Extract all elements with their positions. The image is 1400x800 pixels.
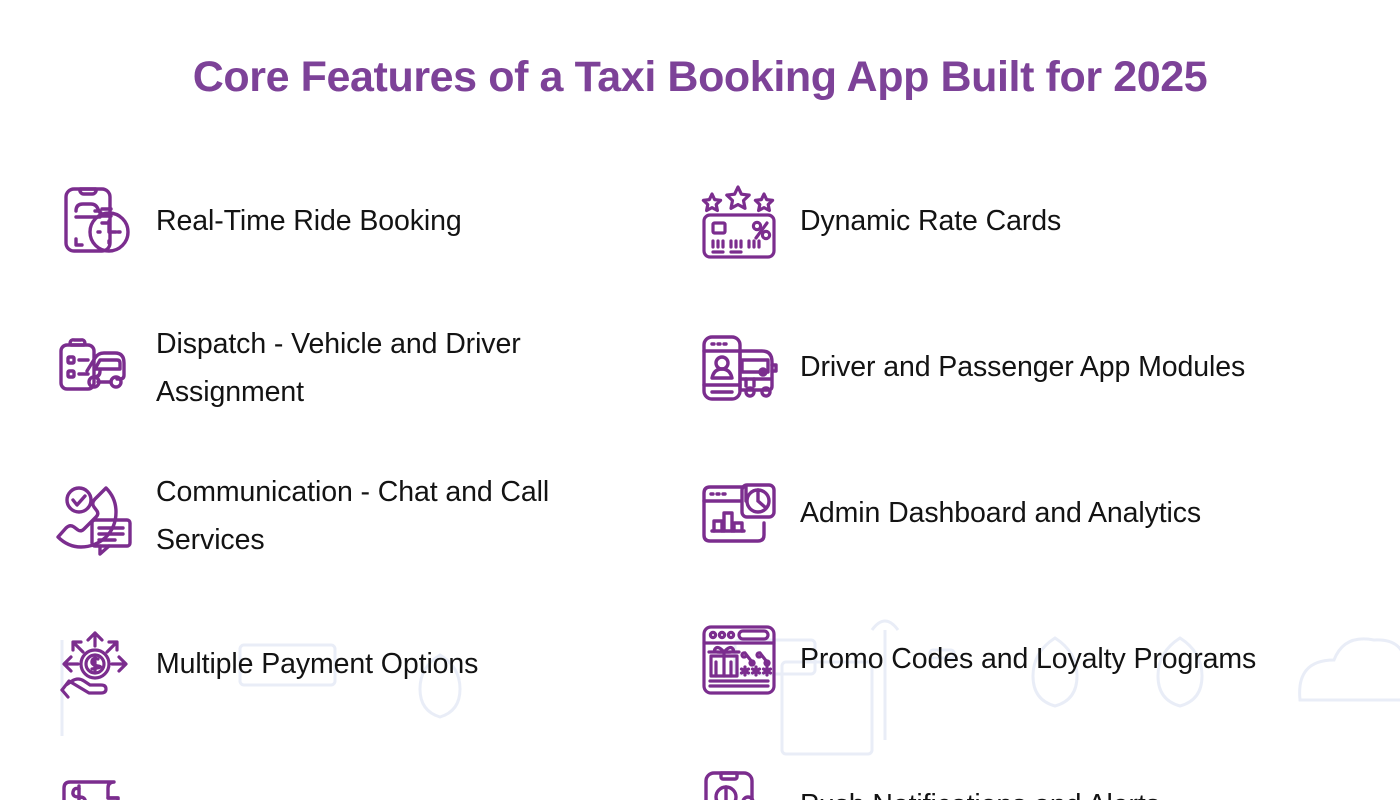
hand-coin-arrows-icon <box>54 624 136 706</box>
clipboard-vehicle-icon <box>54 328 136 410</box>
dashboard-charts-icon <box>698 473 780 555</box>
page-title: Core Features of a Taxi Booking App Buil… <box>52 44 1348 103</box>
feature-item: Real-Time Ride Booking <box>54 149 682 295</box>
features-column-left: Real-Time Ride Booking <box>52 149 682 800</box>
feature-item: Push Notifications and Alerts <box>698 733 1348 800</box>
feature-label: Push Notifications and Alerts <box>800 782 1160 800</box>
feature-item: Dynamic Rate Cards <box>698 149 1348 295</box>
feature-item: Driver and Passenger App Modules <box>698 295 1348 441</box>
feature-label: Multiple Payment Options <box>156 641 478 689</box>
rate-card-stars-percent-icon <box>698 181 780 263</box>
infographic-page: Core Features of a Taxi Booking App Buil… <box>0 0 1400 800</box>
feature-item: Dispatch - Vehicle and Driver Assignment <box>54 295 682 443</box>
features-column-right: Dynamic Rate Cards <box>682 149 1348 800</box>
feature-label: Invoicing and Accounting <box>156 789 469 800</box>
browser-gift-percent-icon <box>698 619 780 701</box>
feature-item: Communication - Chat and Call Services <box>54 443 682 591</box>
invoice-dollar-cash-icon <box>54 772 136 800</box>
feature-label: Real-Time Ride Booking <box>156 198 462 246</box>
phone-user-bus-icon <box>698 327 780 409</box>
feature-item: Invoicing and Accounting <box>54 739 682 800</box>
feature-label: Dynamic Rate Cards <box>800 198 1061 246</box>
feature-item: Multiple Payment Options <box>54 591 682 739</box>
feature-label: Admin Dashboard and Analytics <box>800 490 1201 538</box>
feature-item: Promo Codes and Loyalty Programs <box>698 587 1348 733</box>
feature-label: Promo Codes and Loyalty Programs <box>800 636 1256 684</box>
features-grid: Real-Time Ride Booking <box>52 149 1348 800</box>
feature-label: Dispatch - Vehicle and Driver Assignment <box>156 321 556 417</box>
phone-check-chat-icon <box>54 476 136 558</box>
phone-bell-alert-icon <box>698 765 780 800</box>
phone-car-clock-icon <box>54 181 136 263</box>
feature-item: Admin Dashboard and Analytics <box>698 441 1348 587</box>
feature-label: Communication - Chat and Call Services <box>156 469 556 565</box>
feature-label: Driver and Passenger App Modules <box>800 344 1245 392</box>
